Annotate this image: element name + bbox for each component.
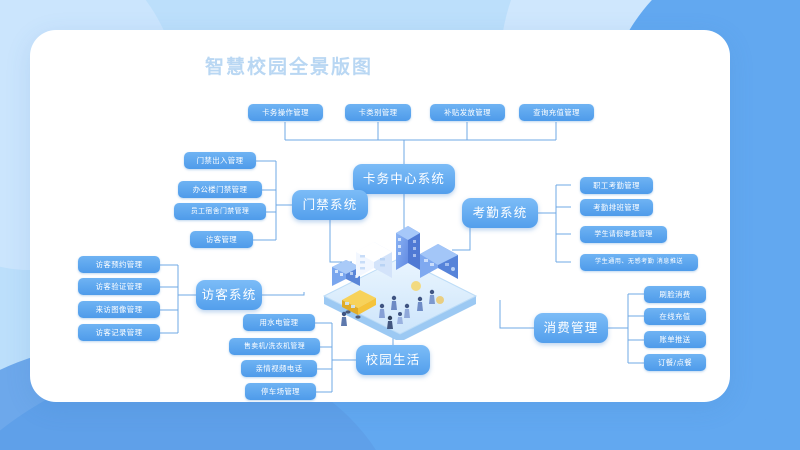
leaf-office-access[interactable]: 办公楼门禁管理 bbox=[178, 181, 262, 198]
leaf-staff-attendance[interactable]: 职工考勤管理 bbox=[580, 177, 653, 194]
leaf-subsidy-issue[interactable]: 补贴发放管理 bbox=[430, 104, 505, 121]
leaf-parking-mgmt[interactable]: 停车场管理 bbox=[245, 383, 316, 400]
leaf-visitor-record[interactable]: 访客记录管理 bbox=[78, 324, 160, 341]
hub-card-center-system[interactable]: 卡务中心系统 bbox=[353, 164, 455, 194]
leaf-access-entry[interactable]: 门禁出入管理 bbox=[184, 152, 256, 169]
leaf-card-operation[interactable]: 卡务操作管理 bbox=[248, 104, 323, 121]
hub-consumption-mgmt[interactable]: 消费管理 bbox=[534, 313, 608, 343]
hub-access-system[interactable]: 门禁系统 bbox=[292, 190, 368, 220]
leaf-query-recharge[interactable]: 查询充值管理 bbox=[519, 104, 594, 121]
leaf-family-video-call[interactable]: 亲情视频电话 bbox=[241, 360, 317, 377]
leaf-vending-laundry[interactable]: 售卖机/洗衣机管理 bbox=[229, 338, 320, 355]
leaf-visitor-appointment[interactable]: 访客预约管理 bbox=[78, 256, 160, 273]
hub-campus-life[interactable]: 校园生活 bbox=[356, 345, 430, 375]
screenshot-root: 智慧校园全景版图 bbox=[0, 0, 800, 450]
leaf-student-passive-attendance[interactable]: 学生通用、无感考勤 消息推送 bbox=[580, 254, 698, 271]
hub-visitor-system[interactable]: 访客系统 bbox=[196, 280, 262, 310]
leaf-face-payment[interactable]: 刷脸消费 bbox=[644, 286, 706, 303]
leaf-meal-order[interactable]: 订餐/点餐 bbox=[644, 354, 706, 371]
leaf-card-category[interactable]: 卡类别管理 bbox=[345, 104, 411, 121]
building-right bbox=[420, 244, 458, 279]
isometric-campus-illustration bbox=[312, 222, 488, 340]
leaf-visitor-verification[interactable]: 访客验证管理 bbox=[78, 278, 160, 295]
leaf-utility-mgmt[interactable]: 用水电管理 bbox=[243, 314, 315, 331]
highlight-marker-2 bbox=[436, 296, 444, 304]
leaf-bill-push[interactable]: 账单推送 bbox=[644, 331, 706, 348]
highlight-marker bbox=[411, 281, 421, 291]
leaf-student-leave-approval[interactable]: 学生请假审批管理 bbox=[580, 226, 667, 243]
leaf-dorm-access[interactable]: 员工宿舍门禁管理 bbox=[174, 203, 266, 220]
leaf-attendance-shift[interactable]: 考勤排班管理 bbox=[580, 199, 653, 216]
leaf-visitor-mgmt[interactable]: 访客管理 bbox=[190, 231, 253, 248]
leaf-online-recharge[interactable]: 在线充值 bbox=[644, 308, 706, 325]
building-left bbox=[332, 260, 360, 286]
leaf-visitor-image[interactable]: 来访图像管理 bbox=[78, 301, 160, 318]
